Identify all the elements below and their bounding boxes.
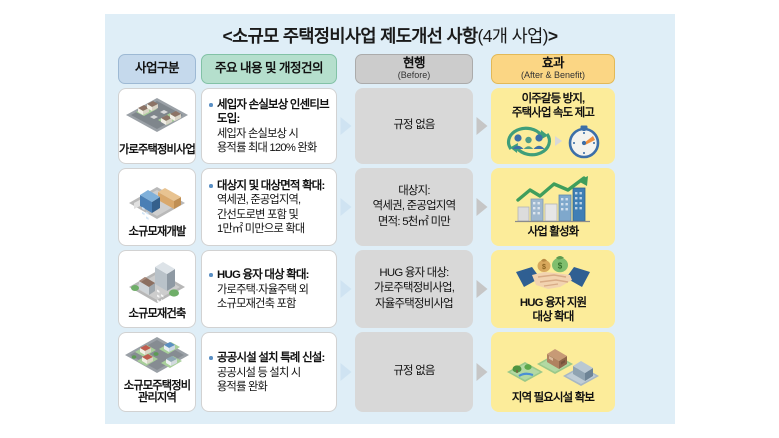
row-1-detail-heading: 세입자 손실보상 인센티브 도입: <box>209 98 330 127</box>
row-3-after-text: HUG 융자 지원 대상 확대 <box>520 297 586 324</box>
header-category-label: 사업구분 <box>135 62 179 76</box>
row-3-after: $ $ HUG 융자 <box>491 250 615 328</box>
row-1-category: 가로주택정비사업 <box>118 88 196 164</box>
row-2-before-text: 대상지: 역세권, 준공업지역 면적: 5천㎡ 미만 <box>373 184 456 229</box>
row-2-category-label: 소규모재개발 <box>129 226 186 239</box>
arrow-before-to-after <box>473 168 491 246</box>
row-2-detail-heading: 대상지 및 대상면적 확대: <box>209 179 330 193</box>
header-after-label: 효과 <box>542 57 564 71</box>
row-1-after-text: 이주갈등 방지, 주택사업 속도 제고 <box>512 93 594 120</box>
spacer <box>473 54 491 84</box>
table-row: 소규모재개발 대상지 및 대상면적 확대: 역세권, 준공업지역, 간선도로변 … <box>118 168 662 246</box>
row-3-detail-heading: HUG 융자 대상 확대: <box>209 268 330 282</box>
row-4-category: 소규모주택정비 관리지역 <box>118 332 196 412</box>
office-buildings-isometric-icon <box>119 169 195 226</box>
arrow-detail-to-before <box>337 250 355 328</box>
chevron-right-gray-icon <box>477 363 488 381</box>
table-row: 소규모주택정비 관리지역 공공시설 설치 특례 신설: 공공시설 등 설치 시 … <box>118 332 662 412</box>
row-4-before: 규정 없음 <box>355 332 473 412</box>
row-2-category: 소규모재개발 <box>118 168 196 246</box>
arrow-detail-to-before <box>337 168 355 246</box>
row-3-before-text: HUG 융자 대상: 가로주택정비사업, 자율주택정비사업 <box>374 266 454 311</box>
table-row: 소규모재건축 HUG 융자 대상 확대: 가로주택·자율주택 외 소규모재건축 … <box>118 250 662 328</box>
infographic-panel: <소규모 주택정비사업 제도개선 사항(4개 사업)> 사업구분 주요 내용 및… <box>105 14 675 424</box>
people-cycle-stopwatch-icon <box>495 123 611 159</box>
row-1-after: 이주갈등 방지, 주택사업 속도 제고 <box>491 88 615 164</box>
row-4-before-text: 규정 없음 <box>393 364 434 379</box>
chevron-right-gray-icon <box>477 198 488 216</box>
row-1-category-label: 가로주택정비사업 <box>119 144 195 157</box>
row-2-before: 대상지: 역세권, 준공업지역 면적: 5천㎡ 미만 <box>355 168 473 246</box>
table-row: 가로주택정비사업 세입자 손실보상 인센티브 도입: 세입자 손실보상 시 용적… <box>118 88 662 164</box>
street-houses-isometric-icon <box>119 89 195 144</box>
row-3-before: HUG 융자 대상: 가로주택정비사업, 자율주택정비사업 <box>355 250 473 328</box>
chevron-right-gray-icon <box>477 117 488 135</box>
growth-chart-buildings-icon <box>495 174 611 224</box>
row-1-detail: 세입자 손실보상 인센티브 도입: 세입자 손실보상 시 용적률 최대 120%… <box>201 88 337 164</box>
row-3-category-label: 소규모재건축 <box>129 308 186 321</box>
header-before-sublabel: (Before) <box>398 71 431 81</box>
arrow-detail-to-before <box>337 88 355 164</box>
title-prefix: < <box>223 26 233 46</box>
header-before: 현행 (Before) <box>355 54 473 84</box>
spacer <box>337 54 355 84</box>
chevron-right-blue-icon <box>341 198 352 216</box>
arrow-before-to-after <box>473 332 491 412</box>
row-4-after: 지역 필요시설 확보 <box>491 332 615 412</box>
header-detail-label: 주요 내용 및 개정건의 <box>215 62 323 76</box>
header-row: 사업구분 주요 내용 및 개정건의 현행 (Before) 효과 (After … <box>118 54 662 84</box>
row-2-detail-body: 역세권, 준공업지역, 간선도로변 포함 및 1만㎡ 미만으로 확대 <box>209 193 330 237</box>
svg-text:$: $ <box>558 262 563 271</box>
page-title: <소규모 주택정비사업 제도개선 사항(4개 사업)> <box>105 14 675 50</box>
row-4-detail-body: 공공시설 등 설치 시 용적률 완화 <box>209 366 330 395</box>
row-3-category: 소규모재건축 <box>118 250 196 328</box>
header-after: 효과 (After & Benefit) <box>491 54 615 84</box>
row-4-after-text: 지역 필요시설 확보 <box>512 392 594 406</box>
row-1-before-text: 규정 없음 <box>393 118 434 133</box>
park-facility-isometric-icon <box>495 338 611 390</box>
row-2-detail: 대상지 및 대상면적 확대: 역세권, 준공업지역, 간선도로변 포함 및 1만… <box>201 168 337 246</box>
row-1-detail-body: 세입자 손실보상 시 용적률 최대 120% 완화 <box>209 127 330 156</box>
row-3-detail: HUG 융자 대상 확대: 가로주택·자율주택 외 소규모재건축 포함 <box>201 250 337 328</box>
header-after-sublabel: (After & Benefit) <box>521 71 585 81</box>
title-main: 소규모 주택정비사업 제도개선 사항 <box>232 26 477 46</box>
arrow-before-to-after <box>473 88 491 164</box>
row-4-category-label: 소규모주택정비 관리지역 <box>124 380 190 405</box>
chevron-right-blue-icon <box>341 363 352 381</box>
header-before-label: 현행 <box>403 57 425 71</box>
chevron-right-blue-icon <box>341 280 352 298</box>
row-3-detail-body: 가로주택·자율주택 외 소규모재건축 포함 <box>209 283 330 312</box>
row-4-detail: 공공시설 설치 특례 신설: 공공시설 등 설치 시 용적률 완화 <box>201 332 337 412</box>
header-detail: 주요 내용 및 개정건의 <box>201 54 337 84</box>
handshake-money-icon: $ $ <box>495 253 611 295</box>
neighborhood-block-isometric-icon <box>119 333 195 380</box>
apartment-block-isometric-icon <box>119 251 195 308</box>
title-suffix: > <box>548 26 558 46</box>
header-category: 사업구분 <box>118 54 196 84</box>
comparison-grid: 사업구분 주요 내용 및 개정건의 현행 (Before) 효과 (After … <box>118 54 662 416</box>
row-1-before: 규정 없음 <box>355 88 473 164</box>
row-2-after: 사업 활성화 <box>491 168 615 246</box>
chevron-right-blue-icon <box>341 117 352 135</box>
chevron-right-gray-icon <box>477 280 488 298</box>
title-paren: (4개 사업) <box>477 26 547 46</box>
row-2-after-text: 사업 활성화 <box>528 226 579 240</box>
row-4-detail-heading: 공공시설 설치 특례 신설: <box>209 351 330 365</box>
arrow-before-to-after <box>473 250 491 328</box>
arrow-detail-to-before <box>337 332 355 412</box>
svg-text:$: $ <box>542 264 546 271</box>
